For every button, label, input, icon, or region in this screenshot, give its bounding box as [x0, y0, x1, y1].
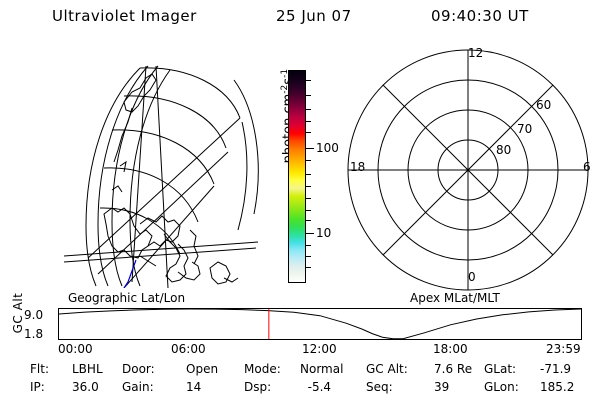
x-tick-label: 18:00 — [433, 342, 468, 356]
orbit-plot-box — [58, 308, 582, 340]
colorbar-minor-tick — [306, 245, 311, 246]
status-value: 39 — [434, 380, 449, 394]
x-tick-label: 12:00 — [302, 342, 337, 356]
mlt-label: 18 — [350, 160, 365, 174]
colorbar-gradient — [289, 71, 305, 282]
mlt-label: 0 — [468, 270, 476, 284]
colorbar-minor-tick — [306, 160, 311, 161]
status-value: 185.2 — [540, 380, 574, 394]
status-label: GLat: — [484, 362, 516, 376]
uvi-display: Ultraviolet Imager 25 Jun 07 09:40:30 UT — [0, 0, 600, 400]
colorbar-minor-tick — [306, 267, 311, 268]
status-label: Flt: — [30, 362, 49, 376]
x-tick-label: 06:00 — [171, 342, 206, 356]
status-label: Door: — [122, 362, 155, 376]
geographic-globe-panel — [28, 44, 260, 288]
colorbar-tick-label: 10 — [316, 226, 331, 240]
colorbar-major-tick — [306, 233, 314, 234]
colorbar-minor-tick — [306, 256, 311, 257]
mlat-label: 80 — [496, 143, 511, 157]
status-label: Gain: — [122, 380, 154, 394]
status-label: Mode: — [244, 362, 281, 376]
observation-time: 09:40:30 UT — [431, 7, 529, 25]
status-value: 36.0 — [72, 380, 99, 394]
colorbar-minor-tick — [306, 132, 311, 133]
colorbar-ticks — [306, 70, 314, 283]
gc-alt-axis-label: GC Alt — [11, 283, 25, 343]
observation-date: 25 Jun 07 — [276, 7, 352, 25]
status-footer: Flt:LBHLDoor:OpenMode:NormalGC Alt:7.6 R… — [0, 362, 600, 400]
status-value: Normal — [300, 362, 343, 376]
status-value: 7.6 Re — [434, 362, 472, 376]
mlat-label: 60 — [536, 98, 551, 112]
status-value: 14 — [186, 380, 201, 394]
colorbar: photon cm-2s-1 10010 — [262, 60, 352, 292]
colorbar-tick-label: 100 — [316, 141, 339, 155]
status-value: -5.4 — [300, 380, 331, 394]
status-label: GC Alt: — [366, 362, 408, 376]
gc-altitude-plot: GC Alt 9.0 1.8 00:0006:0012:0018:0023:59 — [0, 300, 600, 356]
status-label: Dsp: — [244, 380, 271, 394]
colorbar-minor-tick — [306, 80, 311, 81]
apex-panel-caption: Apex MLat/MLT — [410, 291, 500, 305]
colorbar-minor-tick — [306, 95, 311, 96]
geographic-panel-caption: Geographic Lat/Lon — [68, 291, 185, 305]
x-tick-label: 23:59 — [546, 342, 581, 356]
colorbar-minor-tick — [306, 210, 311, 211]
colorbar-minor-tick — [306, 220, 311, 221]
dial-grid — [340, 42, 598, 294]
status-label: IP: — [30, 380, 45, 394]
apex-mlat-mlt-dial: 121860607080 — [340, 42, 598, 294]
colorbar-minor-tick — [306, 174, 311, 175]
mlt-label: 6 — [583, 160, 591, 174]
status-label: Seq: — [366, 380, 393, 394]
mlt-label: 12 — [468, 46, 483, 60]
status-value: Open — [186, 362, 218, 376]
orbit-curve — [59, 309, 581, 339]
x-tick-label: 00:00 — [58, 342, 93, 356]
page-title: Ultraviolet Imager — [52, 7, 197, 25]
colorbar-minor-tick — [306, 109, 311, 110]
spacecraft-track — [124, 260, 136, 288]
colorbar-major-tick — [306, 148, 314, 149]
colorbar-minor-tick — [306, 198, 311, 199]
status-value: LBHL — [72, 362, 103, 376]
altitude-curve — [59, 309, 581, 339]
colorbar-minor-tick — [306, 121, 311, 122]
globe-graticule — [28, 44, 260, 288]
status-value: -71.9 — [540, 362, 571, 376]
status-label: GLon: — [484, 380, 519, 394]
mlat-label: 70 — [517, 122, 532, 136]
colorbar-gradient-box — [288, 70, 306, 283]
colorbar-minor-tick — [306, 186, 311, 187]
